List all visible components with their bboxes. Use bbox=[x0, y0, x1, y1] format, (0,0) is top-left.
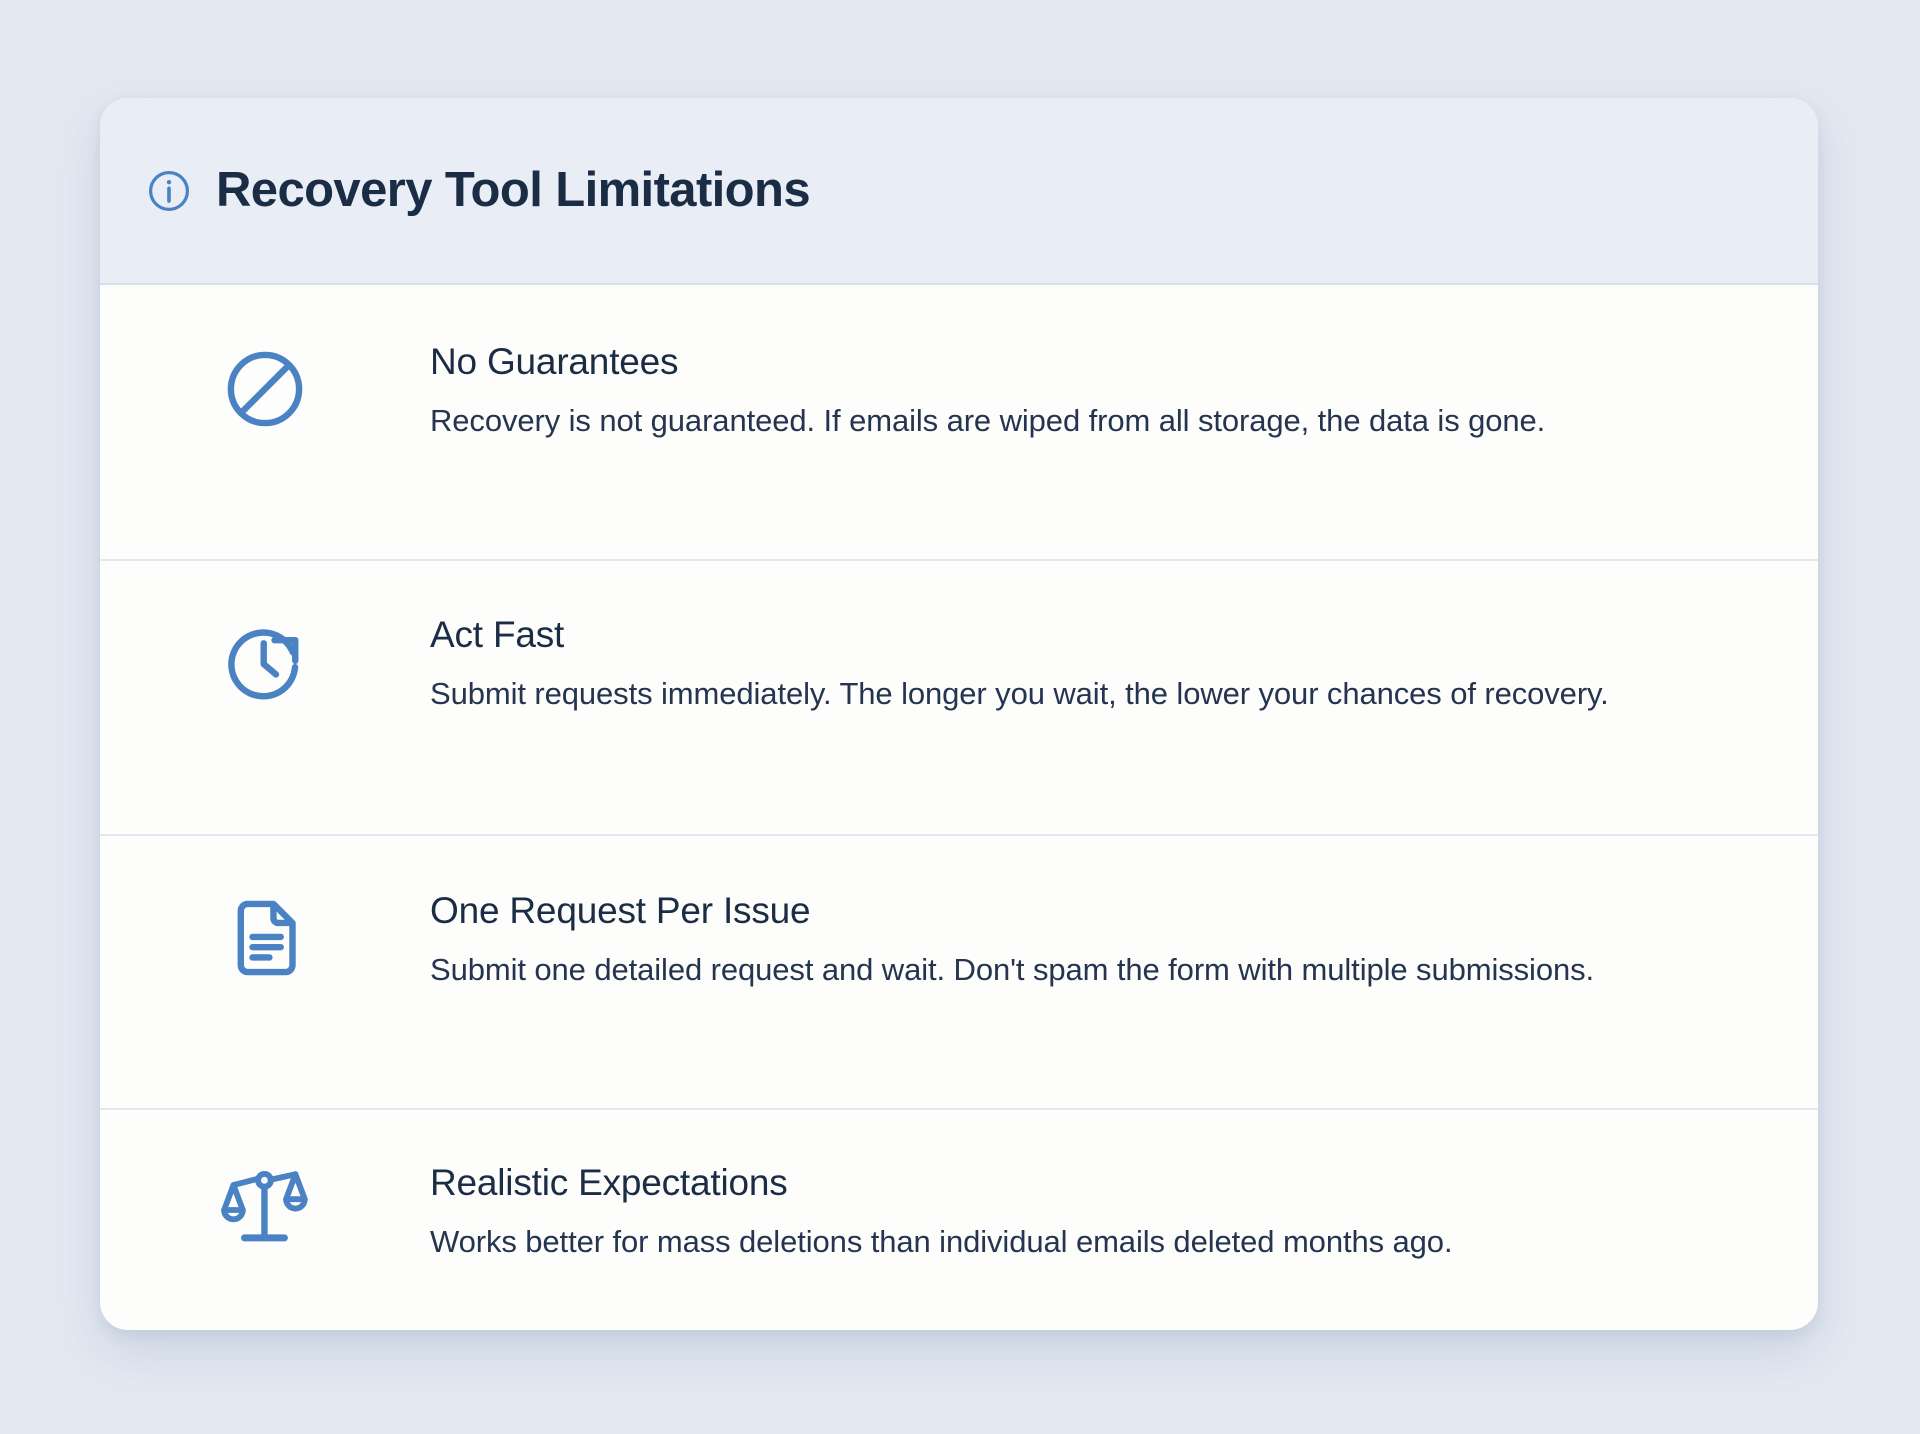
page-background: Recovery Tool Limitations No Guarantees … bbox=[0, 0, 1920, 1434]
row-text: Act Fast Submit requests immediately. Th… bbox=[430, 614, 1758, 716]
list-item: Act Fast Submit requests immediately. Th… bbox=[100, 561, 1818, 836]
row-icon-cell bbox=[100, 890, 430, 982]
card-header: Recovery Tool Limitations bbox=[100, 98, 1818, 285]
list-item-description: Recovery is not guaranteed. If emails ar… bbox=[430, 398, 1728, 444]
info-circle-icon bbox=[146, 168, 192, 214]
row-text: Realistic Expectations Works better for … bbox=[430, 1162, 1758, 1264]
row-text: No Guarantees Recovery is not guaranteed… bbox=[430, 341, 1758, 443]
row-icon-cell bbox=[100, 614, 430, 706]
list-item-description: Works better for mass deletions than ind… bbox=[430, 1219, 1728, 1265]
list-item: Realistic Expectations Works better for … bbox=[100, 1110, 1818, 1328]
clock-arrow-icon bbox=[221, 618, 309, 706]
list-item-title: Act Fast bbox=[430, 614, 1728, 657]
list-item-title: One Request Per Issue bbox=[430, 890, 1728, 933]
list-item-title: Realistic Expectations bbox=[430, 1162, 1728, 1205]
row-text: One Request Per Issue Submit one detaile… bbox=[430, 890, 1758, 992]
row-icon-cell bbox=[100, 341, 430, 433]
list-item-description: Submit requests immediately. The longer … bbox=[430, 671, 1728, 717]
list-item-description: Submit one detailed request and wait. Do… bbox=[430, 947, 1728, 993]
document-lines-icon bbox=[221, 894, 309, 982]
row-icon-cell bbox=[100, 1162, 430, 1254]
list-item-title: No Guarantees bbox=[430, 341, 1728, 384]
limitations-list: No Guarantees Recovery is not guaranteed… bbox=[100, 285, 1818, 1330]
page-title: Recovery Tool Limitations bbox=[216, 166, 810, 215]
list-item: No Guarantees Recovery is not guaranteed… bbox=[100, 285, 1818, 561]
balance-scale-icon bbox=[221, 1166, 309, 1254]
prohibited-icon bbox=[221, 345, 309, 433]
recovery-tool-limitations-card: Recovery Tool Limitations No Guarantees … bbox=[100, 98, 1818, 1330]
list-item: One Request Per Issue Submit one detaile… bbox=[100, 836, 1818, 1110]
